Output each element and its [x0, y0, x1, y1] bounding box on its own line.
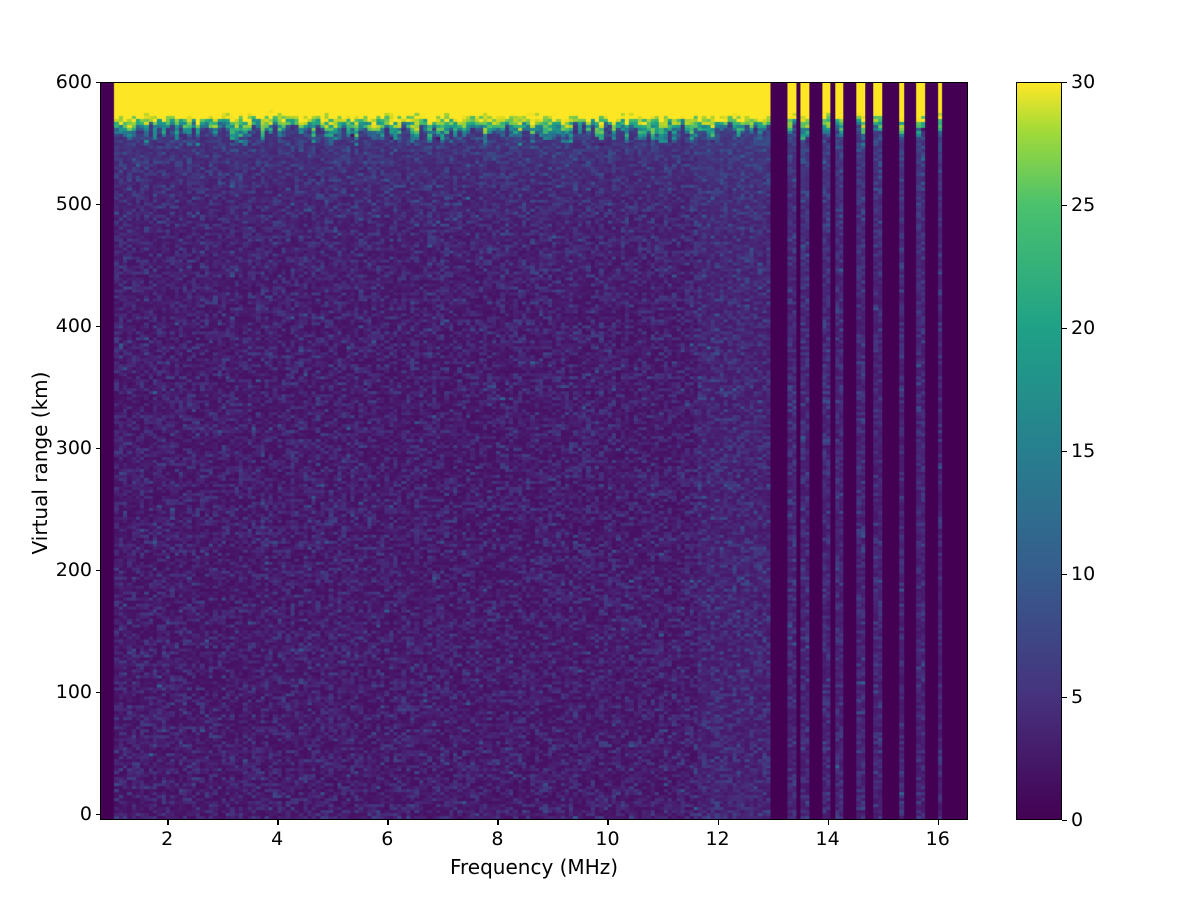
- colorbar-tick-mark: [1062, 574, 1067, 575]
- x-axis-label: Frequency (MHz): [100, 855, 968, 879]
- plot-area: [100, 82, 968, 820]
- y-tick-label: 0: [0, 803, 92, 825]
- x-tick-label: 14: [798, 828, 858, 850]
- x-tick-mark: [607, 820, 608, 825]
- x-tick-label: 6: [357, 828, 417, 850]
- x-tick-mark: [828, 820, 829, 825]
- y-tick-mark: [96, 814, 101, 815]
- colorbar-tick-mark: [1062, 820, 1067, 821]
- colorbar-tick-label: 5: [1071, 686, 1141, 708]
- colorbar-tick-label: 10: [1071, 563, 1141, 585]
- y-tick-mark: [96, 204, 101, 205]
- colorbar-tick-mark: [1062, 328, 1067, 329]
- y-axis-label: Virtual range (km): [28, 293, 52, 633]
- x-tick-mark: [497, 820, 498, 825]
- x-tick-mark: [387, 820, 388, 825]
- x-tick-mark: [938, 820, 939, 825]
- colorbar-tick-label: 20: [1071, 317, 1141, 339]
- x-tick-label: 16: [908, 828, 968, 850]
- y-tick-label: 100: [0, 681, 92, 703]
- y-tick-mark: [96, 692, 101, 693]
- x-tick-label: 4: [247, 828, 307, 850]
- y-tick-mark: [96, 82, 101, 83]
- x-tick-label: 12: [688, 828, 748, 850]
- x-tick-label: 10: [577, 828, 637, 850]
- colorbar-tick-mark: [1062, 451, 1067, 452]
- x-tick-mark: [277, 820, 278, 825]
- x-tick-mark: [167, 820, 168, 825]
- colorbar-tick-mark: [1062, 82, 1067, 83]
- y-tick-mark: [96, 326, 101, 327]
- y-tick-label: 600: [0, 71, 92, 93]
- x-tick-label: 8: [467, 828, 527, 850]
- y-tick-label: 500: [0, 193, 92, 215]
- colorbar: [1016, 82, 1062, 820]
- colorbar-tick-mark: [1062, 697, 1067, 698]
- colorbar-gradient: [1017, 83, 1061, 819]
- y-tick-mark: [96, 570, 101, 571]
- ionogram-heatmap: [101, 83, 967, 819]
- colorbar-tick-label: 30: [1071, 71, 1141, 93]
- colorbar-tick-mark: [1062, 205, 1067, 206]
- x-tick-mark: [718, 820, 719, 825]
- colorbar-tick-label: 15: [1071, 440, 1141, 462]
- ionogram-figure: IRF Kiruna Ionosonde KI167 2025-11-14 19…: [0, 0, 1200, 900]
- x-tick-label: 2: [137, 828, 197, 850]
- colorbar-tick-label: 25: [1071, 194, 1141, 216]
- y-tick-mark: [96, 448, 101, 449]
- colorbar-tick-label: 0: [1071, 809, 1141, 831]
